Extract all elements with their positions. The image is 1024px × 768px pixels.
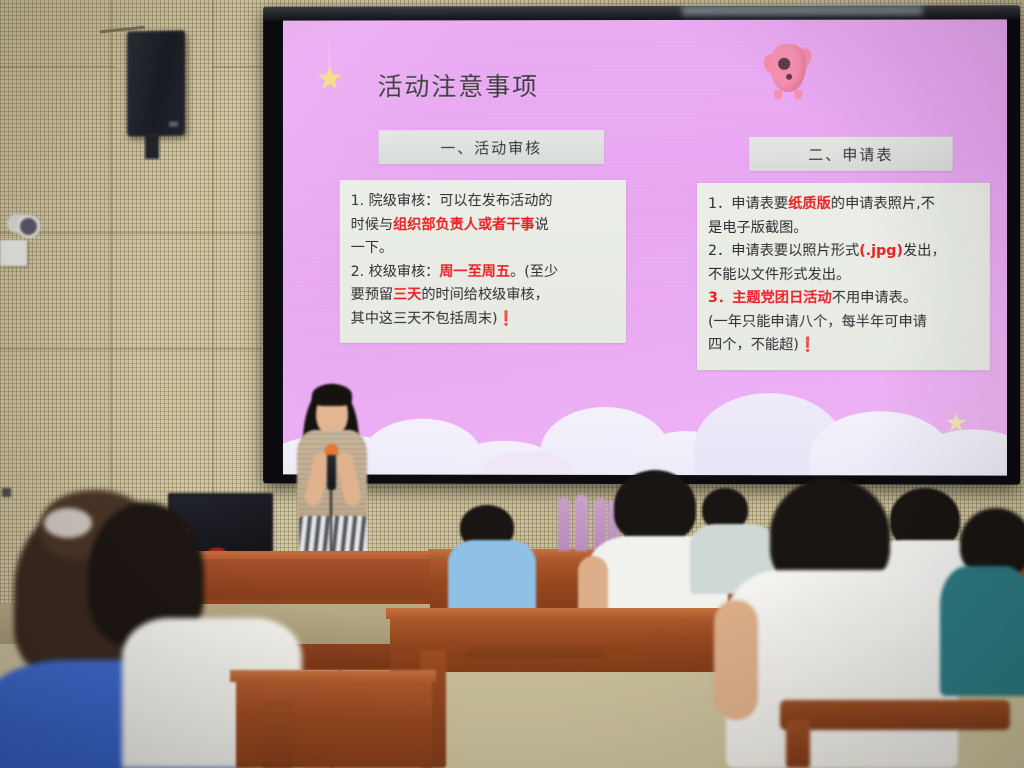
speaker-logo — [169, 122, 178, 127]
microphone — [327, 452, 336, 490]
right-box-line: 1．申请表要纸质版的申请表照片,不 — [708, 193, 979, 217]
hair-tie — [44, 508, 92, 538]
presentation-slide: 活动注意事项 一、活动审核 二、申请表 1. 院级审核：可以在发布活动的时候与组… — [283, 19, 1007, 475]
left-box-line: 1. 院级审核：可以在发布活动的 — [351, 190, 615, 214]
right-text-box: 1．申请表要纸质版的申请表照片,不是电子版截图。2．申请表要以照片形式(.jpg… — [697, 183, 990, 370]
speaker-bracket — [145, 133, 159, 159]
wall-seam — [212, 66, 264, 68]
wall-seam — [0, 348, 262, 350]
right-box-line: 四个，不能超)❗ — [708, 334, 979, 358]
chair-back — [465, 636, 605, 658]
decor-item — [575, 495, 588, 551]
pig-mascot-icon — [764, 32, 812, 98]
chair-post — [786, 720, 810, 768]
wall-seam — [0, 66, 115, 68]
left-box-line: 一下。 — [351, 237, 615, 260]
display-screen: 活动注意事项 一、活动审核 二、申请表 1. 院级审核：可以在发布活动的时候与组… — [263, 5, 1020, 484]
wall-speaker — [127, 30, 185, 136]
chair-post — [262, 700, 292, 768]
decor-item — [558, 497, 570, 551]
left-box-line: 要预留三天的时间给校级审核， — [351, 284, 615, 308]
desk-top-front — [230, 670, 436, 682]
screen-content-area: 活动注意事项 一、活动审核 二、申请表 1. 院级审核：可以在发布活动的时候与组… — [283, 19, 1007, 475]
screen-glare — [682, 5, 923, 15]
slide-title: 活动注意事项 — [378, 67, 540, 103]
left-box-line: 时候与组织部负责人或者干事说 — [351, 214, 615, 238]
desk-top-mid — [386, 608, 734, 619]
section-header-left: 一、活动审核 — [379, 130, 604, 164]
wall-sensor-box — [0, 240, 27, 266]
lecture-hall-photo: 活动注意事项 一、活动审核 二、申请表 1. 院级审核：可以在发布活动的时候与组… — [0, 0, 1024, 768]
right-box-line: 2．申请表要以照片形式(.jpg)发出， — [708, 240, 979, 264]
right-box-line: (一年只能申请八个，每半年可申请 — [708, 311, 979, 335]
right-box-line: 是电子版截图。 — [708, 216, 979, 240]
sensor-panel — [2, 488, 11, 497]
wall-seam — [0, 232, 262, 234]
right-box-line: 不能以文件形式发出。 — [708, 264, 979, 288]
section-header-right: 二、申请表 — [749, 137, 953, 171]
chair-back — [780, 700, 1010, 730]
cloud-band — [283, 361, 1007, 476]
right-box-line: 3．主题党团日活动不用申请表。 — [708, 287, 979, 311]
left-text-box: 1. 院级审核：可以在发布活动的时候与组织部负责人或者干事说一下。2. 校级审核… — [340, 180, 626, 343]
camera-lens-icon — [17, 215, 40, 238]
left-box-line: 2. 校级审核：周一至周五。(至少 — [351, 260, 615, 284]
microphone-head — [325, 444, 338, 455]
star-string — [329, 21, 330, 73]
left-box-line: 其中这三天不包括周末)❗ — [351, 307, 615, 331]
